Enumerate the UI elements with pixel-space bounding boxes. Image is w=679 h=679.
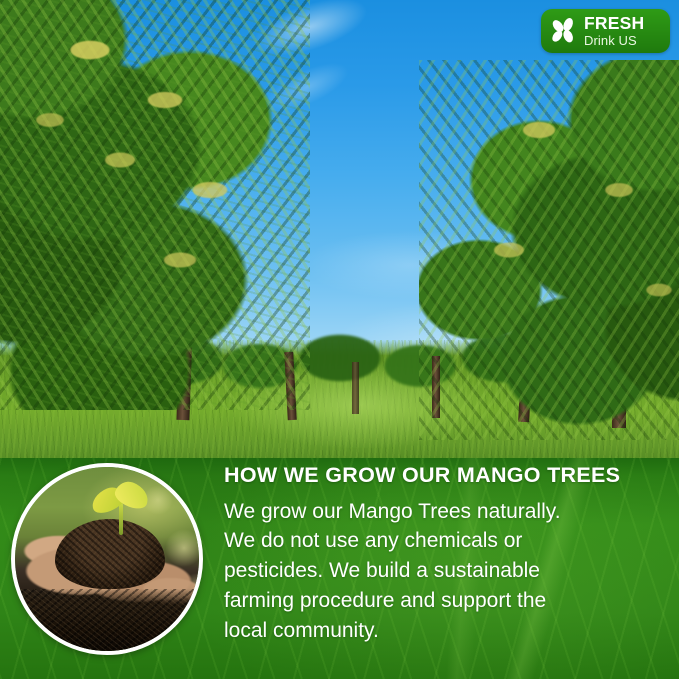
body-line: We grow our Mango Trees naturally. xyxy=(224,497,672,527)
soil-foreground xyxy=(15,589,199,651)
panel-headline: HOW WE GROW OUR MANGO TREES xyxy=(224,464,672,488)
leaf-cluster-icon xyxy=(548,16,579,47)
mango-flower-panicles xyxy=(419,70,679,350)
product-lifestyle-poster: HOW WE GROW OUR MANGO TREES We grow our … xyxy=(0,0,679,679)
panel-text-block: HOW WE GROW OUR MANGO TREES We grow our … xyxy=(224,464,672,646)
seedling-icon xyxy=(89,481,151,537)
logo-tagline: Drink US xyxy=(584,34,644,47)
orchard-photograph xyxy=(0,0,679,470)
seedling-inset-photo xyxy=(11,463,203,655)
panel-body: We grow our Mango Trees naturally. We do… xyxy=(224,497,672,646)
brand-logo[interactable]: FRESH Drink US xyxy=(541,9,670,53)
stem xyxy=(119,503,123,535)
mango-flower-panicles xyxy=(0,10,300,310)
body-line: local community. xyxy=(224,616,672,646)
tree-trunk xyxy=(352,362,359,414)
logo-brand-name: FRESH xyxy=(584,15,644,33)
hands-holding-seedling-photo xyxy=(15,467,199,651)
body-line: pesticides. We build a sustainable xyxy=(224,556,672,586)
logo-text-block: FRESH Drink US xyxy=(584,15,644,48)
body-line: farming procedure and support the xyxy=(224,586,672,616)
body-line: We do not use any chemicals or xyxy=(224,526,672,556)
